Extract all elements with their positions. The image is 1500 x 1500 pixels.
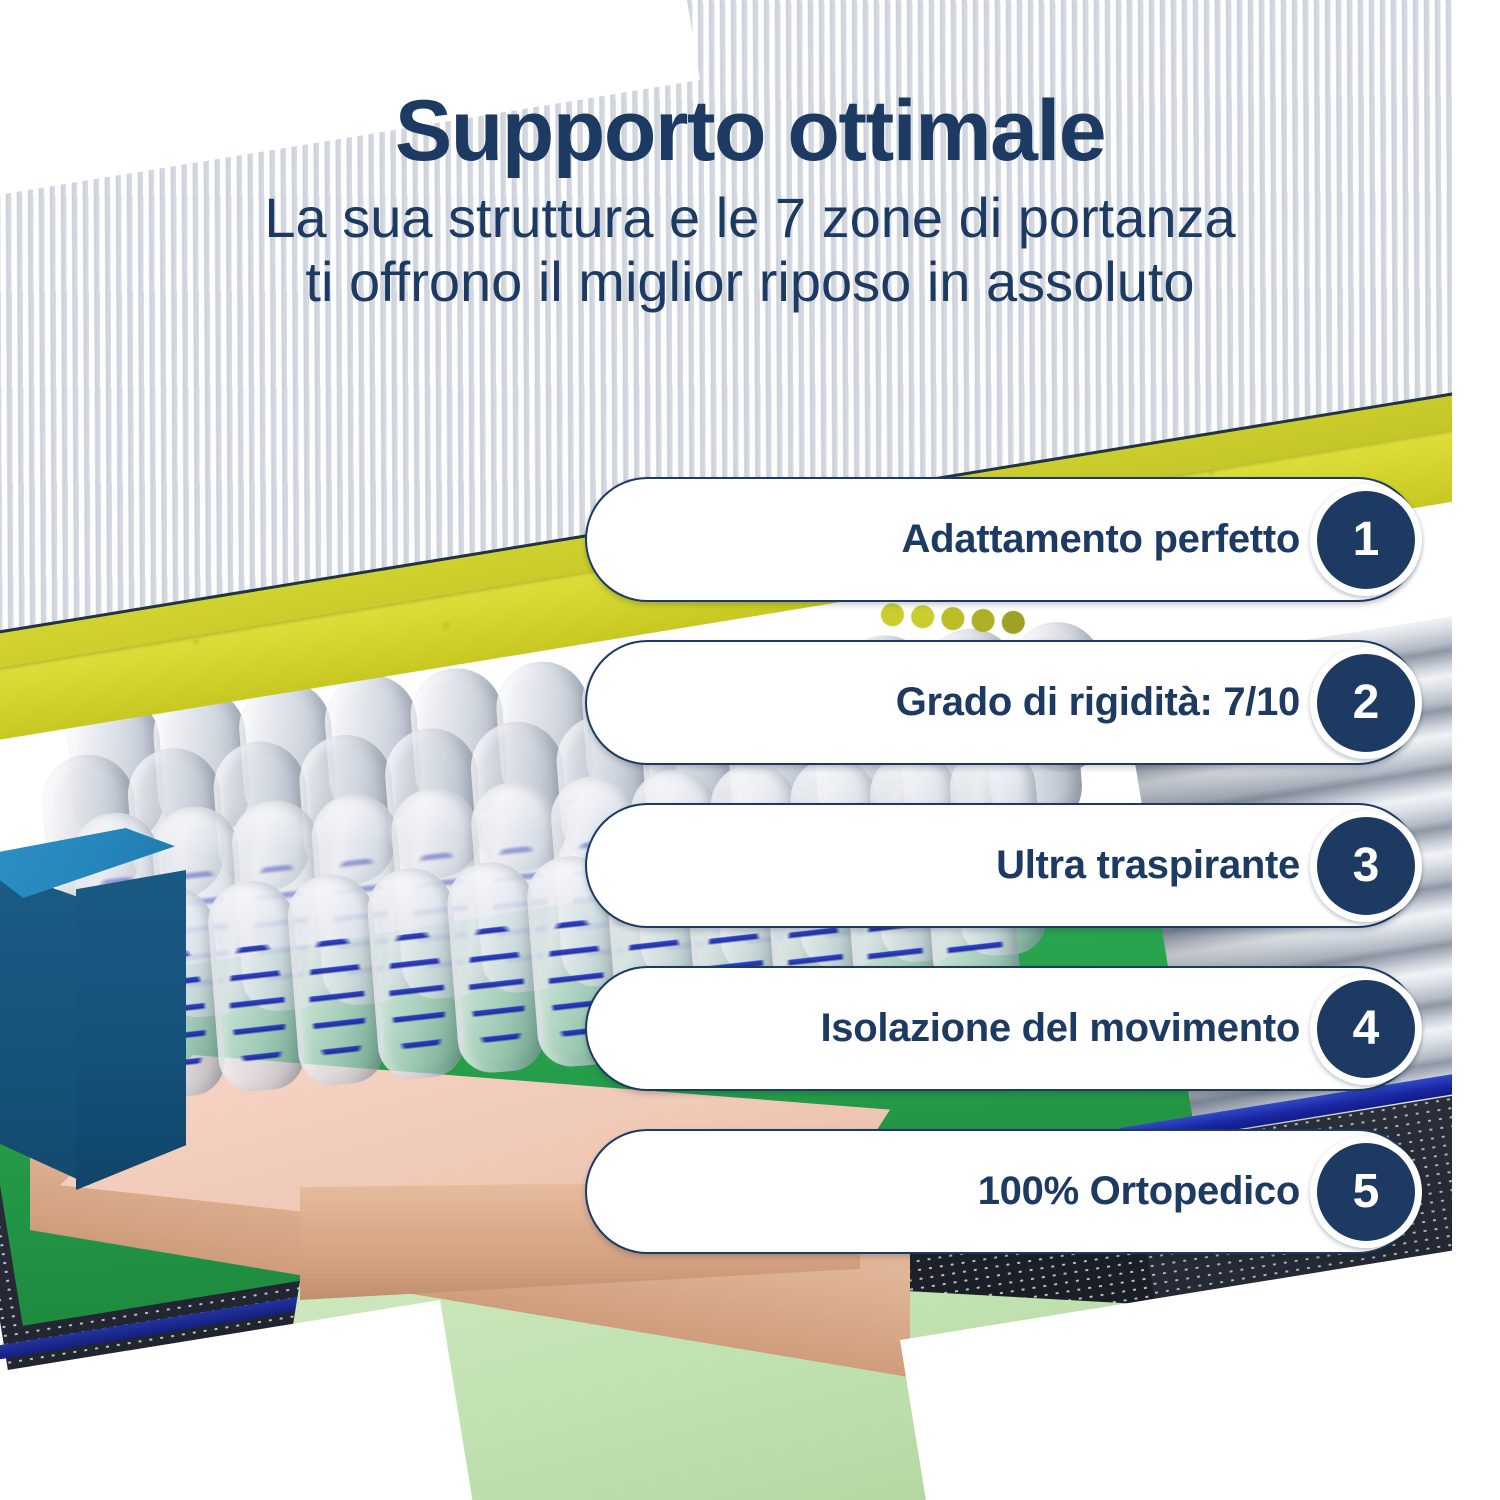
feature-label-3: Ultra traspirante	[996, 843, 1300, 888]
feature-pill-2[interactable]: Grado di rigidità: 7/10 2	[585, 640, 1420, 765]
page-subtitle-line-1: La sua struttura e le 7 zone di portanza	[130, 186, 1370, 250]
feature-list: Adattamento perfetto 1 Grado di rigidità…	[585, 477, 1420, 1292]
feature-badge-4: 4	[1310, 973, 1422, 1085]
feature-label-4: Isolazione del movimento	[820, 1006, 1300, 1051]
feature-label-5: 100% Ortopedico	[978, 1169, 1300, 1214]
feature-pill-4[interactable]: Isolazione del movimento 4	[585, 966, 1420, 1091]
headings-block: Supporto ottimale La sua struttura e le …	[0, 88, 1500, 313]
feature-badge-5: 5	[1310, 1136, 1422, 1248]
page-title: Supporto ottimale	[0, 88, 1500, 176]
product-infographic: Supporto ottimale La sua struttura e le …	[0, 0, 1500, 1500]
feature-label-2: Grado di rigidità: 7/10	[896, 680, 1300, 725]
page-subtitle-line-2: ti offrono il miglior riposo in assoluto	[130, 250, 1370, 314]
feature-pill-1[interactable]: Adattamento perfetto 1	[585, 477, 1420, 602]
feature-label-1: Adattamento perfetto	[902, 517, 1300, 562]
feature-pill-5[interactable]: 100% Ortopedico 5	[585, 1129, 1420, 1254]
feature-badge-3: 3	[1310, 810, 1422, 922]
edge-support-block-right-face	[76, 870, 186, 1190]
feature-pill-3[interactable]: Ultra traspirante 3	[585, 803, 1420, 928]
page-subtitle: La sua struttura e le 7 zone di portanza…	[130, 186, 1370, 314]
feature-badge-1: 1	[1310, 484, 1422, 596]
feature-badge-2: 2	[1310, 647, 1422, 759]
